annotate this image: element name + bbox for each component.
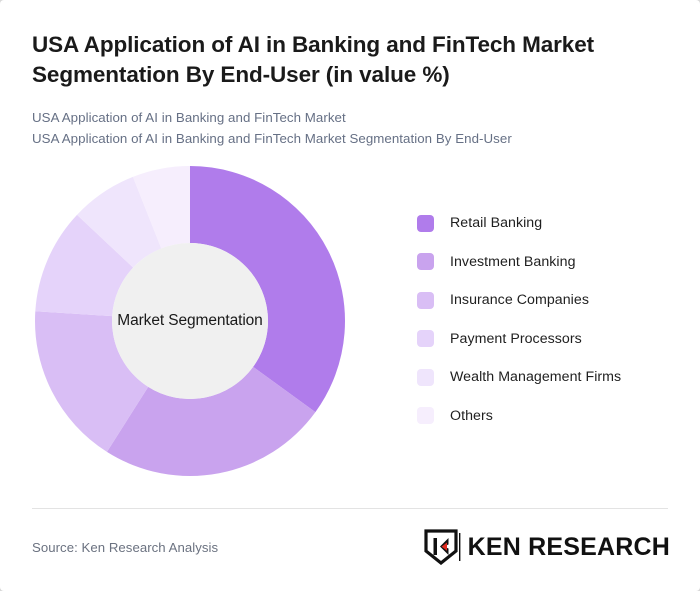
- legend-swatch-icon: [417, 292, 434, 309]
- legend-swatch-icon: [417, 330, 434, 347]
- source-note: Source: Ken Research Analysis: [32, 540, 218, 555]
- legend-swatch-icon: [417, 369, 434, 386]
- chart-card: USA Application of AI in Banking and Fin…: [0, 0, 700, 591]
- brand-separator-icon: [458, 533, 461, 561]
- legend-swatch-icon: [417, 253, 434, 270]
- card-footer: Source: Ken Research Analysis KEN RESEAR…: [32, 526, 670, 568]
- donut-hole: [112, 243, 268, 399]
- legend-item-label: Insurance Companies: [450, 292, 589, 308]
- chart-legend: Retail BankingInvestment BankingInsuranc…: [417, 204, 700, 435]
- brand-logo: KEN RESEARCH: [424, 529, 670, 565]
- page-title: USA Application of AI in Banking and Fin…: [32, 30, 668, 90]
- subtitle-primary: USA Application of AI in Banking and Fin…: [32, 107, 668, 128]
- legend-swatch-icon: [417, 407, 434, 424]
- footer-divider: [32, 508, 668, 509]
- legend-item[interactable]: Payment Processors: [417, 319, 700, 358]
- legend-item[interactable]: Insurance Companies: [417, 281, 700, 320]
- ken-research-shield-icon: [424, 529, 458, 565]
- donut-svg: [35, 166, 345, 476]
- legend-item-label: Payment Processors: [450, 331, 582, 347]
- legend-item[interactable]: Retail Banking: [417, 204, 700, 243]
- brand-wordmark: KEN RESEARCH: [468, 535, 670, 560]
- card-inner: USA Application of AI in Banking and Fin…: [0, 0, 700, 591]
- subtitle-group: USA Application of AI in Banking and Fin…: [32, 107, 668, 149]
- subtitle-secondary: USA Application of AI in Banking and Fin…: [32, 128, 668, 149]
- legend-item-label: Wealth Management Firms: [450, 369, 621, 385]
- legend-swatch-icon: [417, 215, 434, 232]
- donut-chart: Market Segmentation: [35, 166, 345, 476]
- legend-item-label: Others: [450, 408, 493, 424]
- legend-item[interactable]: Wealth Management Firms: [417, 358, 700, 397]
- chart-body: Market Segmentation Retail BankingInvest…: [32, 166, 668, 486]
- legend-item[interactable]: Others: [417, 396, 700, 435]
- legend-item-label: Investment Banking: [450, 254, 576, 270]
- legend-item-label: Retail Banking: [450, 215, 542, 231]
- legend-item[interactable]: Investment Banking: [417, 242, 700, 281]
